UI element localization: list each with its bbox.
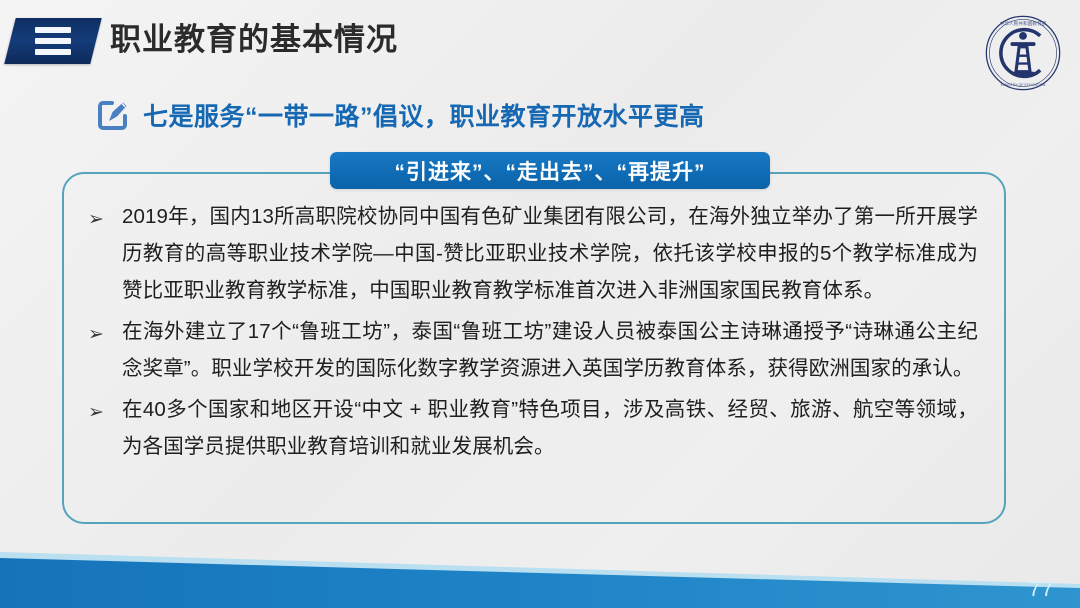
list-item: ➢ 2019年，国内13所高职院校协同中国有色矿业集团有限公司，在海外独立举办了… xyxy=(88,198,978,309)
bullet-arrow-icon: ➢ xyxy=(88,198,122,238)
highlight-banner-text: “引进来”、“走出去”、“再提升” xyxy=(395,156,706,186)
section-subtitle: 七是服务“一带一路”倡议，职业教育开放水平更高 xyxy=(95,97,705,133)
footer-bar xyxy=(0,538,1080,608)
slide-header: 职业教育的基本情况 中华人民共和国教育部 MINISTRY OF EDUCATI… xyxy=(0,0,1080,92)
list-item-text: 在40多个国家和地区开设“中文 + 职业教育”特色项目，涉及高铁、经贸、旅游、航… xyxy=(122,391,978,465)
page-number: 77 xyxy=(1029,578,1054,602)
bullet-arrow-icon: ➢ xyxy=(88,391,122,431)
svg-text:MINISTRY OF EDUCATION: MINISTRY OF EDUCATION xyxy=(1001,83,1046,87)
edit-pencil-square-icon xyxy=(95,97,131,133)
bar-line-1 xyxy=(35,27,71,33)
list-item-text: 2019年，国内13所高职院校协同中国有色矿业集团有限公司，在海外独立举办了第一… xyxy=(122,198,978,309)
page-title: 职业教育的基本情况 xyxy=(110,16,398,64)
hamburger-three-lines-icon xyxy=(4,18,101,64)
bar-line-3 xyxy=(35,49,71,55)
slide-root: 职业教育的基本情况 中华人民共和国教育部 MINISTRY OF EDUCATI… xyxy=(0,0,1080,608)
bullet-arrow-icon: ➢ xyxy=(88,313,122,353)
section-subtitle-text: 七是服务“一带一路”倡议，职业教育开放水平更高 xyxy=(143,97,705,133)
svg-text:中华人民共和国教育部: 中华人民共和国教育部 xyxy=(1000,20,1047,27)
ministry-of-education-emblem-icon: 中华人民共和国教育部 MINISTRY OF EDUCATION xyxy=(984,14,1062,92)
highlight-banner: “引进来”、“走出去”、“再提升” xyxy=(330,152,770,189)
list-item: ➢ 在海外建立了17个“鲁班工坊”，泰国“鲁班工坊”建设人员被泰国公主诗琳通授予… xyxy=(88,313,978,387)
list-item-text: 在海外建立了17个“鲁班工坊”，泰国“鲁班工坊”建设人员被泰国公主诗琳通授予“诗… xyxy=(122,313,978,387)
list-item: ➢ 在40多个国家和地区开设“中文 + 职业教育”特色项目，涉及高铁、经贸、旅游… xyxy=(88,391,978,465)
bullet-list: ➢ 2019年，国内13所高职院校协同中国有色矿业集团有限公司，在海外独立举办了… xyxy=(88,198,978,469)
bar-line-2 xyxy=(35,38,71,44)
